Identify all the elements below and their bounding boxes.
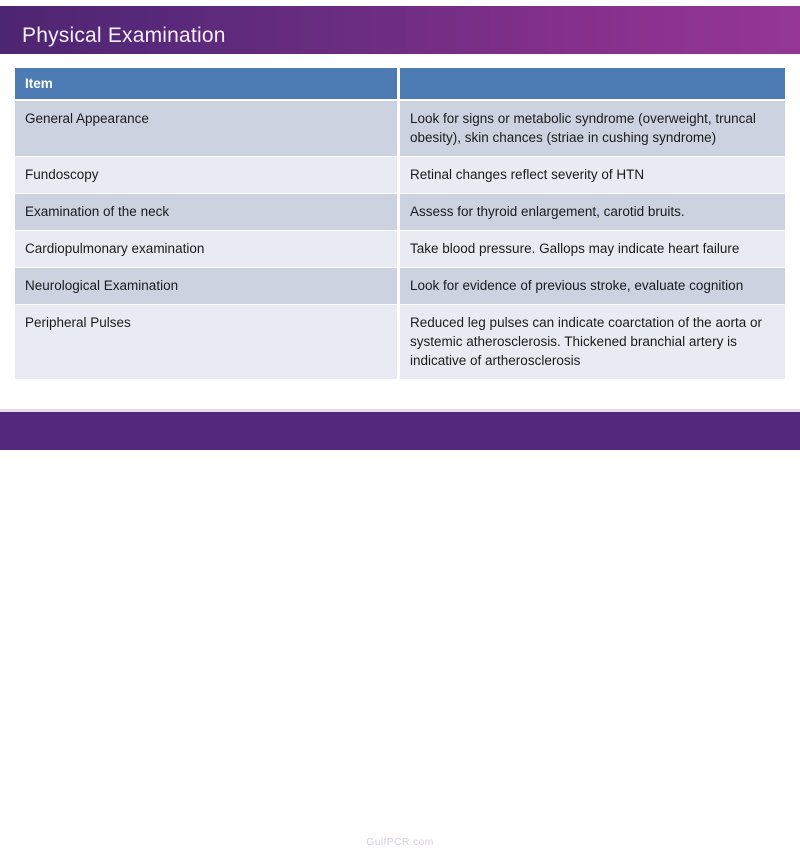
cell-detail: Look for signs or metabolic syndrome (ov… <box>400 101 785 157</box>
logo-divider-rule <box>29 828 31 858</box>
column-header-detail <box>400 68 785 101</box>
table-body: General Appearance Look for signs or met… <box>15 101 785 380</box>
slide-title-band: Physical Examination <box>0 6 800 54</box>
column-header-item: Item <box>15 68 400 101</box>
slide-canvas: Physical Examination Item General Appear… <box>0 0 800 450</box>
slide-footer: GulfPCR.com 2023 gulf PCR IM <box>0 412 800 450</box>
cell-item: Cardiopulmonary examination <box>15 231 400 268</box>
cell-detail: Assess for thyroid enlargement, carotid … <box>400 194 785 231</box>
gulfpcr-logo: 2023 gulf PCR IM <box>14 826 118 860</box>
cell-item: Fundoscopy <box>15 157 400 194</box>
table-header: Item <box>15 68 785 101</box>
table-row: Neurological Examination Look for eviden… <box>15 268 785 305</box>
table-row: Examination of the neck Assess for thyro… <box>15 194 785 231</box>
cell-item: Neurological Examination <box>15 268 400 305</box>
page-title: Physical Examination <box>22 22 226 50</box>
physical-examination-table-container: Item General Appearance Look for signs o… <box>15 68 785 380</box>
cell-detail: Take blood pressure. Gallops may indicat… <box>400 231 785 268</box>
cell-item: General Appearance <box>15 101 400 157</box>
physical-examination-table: Item General Appearance Look for signs o… <box>15 68 785 380</box>
table-row: Cardiopulmonary examination Take blood p… <box>15 231 785 268</box>
cell-detail: Retinal changes reflect severity of HTN <box>400 157 785 194</box>
cell-item: Examination of the neck <box>15 194 400 231</box>
cell-item: Peripheral Pulses <box>15 305 400 380</box>
table-row: General Appearance Look for signs or met… <box>15 101 785 157</box>
cell-detail: Look for evidence of previous stroke, ev… <box>400 268 785 305</box>
table-header-row: Item <box>15 68 785 101</box>
table-row: Fundoscopy Retinal changes reflect sever… <box>15 157 785 194</box>
logo-pcr-label: PCR <box>33 837 74 859</box>
cell-detail: Reduced leg pulses can indicate coarctat… <box>400 305 785 380</box>
footer-website-label: GulfPCR.com <box>0 836 800 848</box>
table-row: Peripheral Pulses Reduced leg pulses can… <box>15 305 785 380</box>
logo-cim-label: IM <box>94 852 103 860</box>
logo-year-label: 2023 <box>14 828 27 858</box>
